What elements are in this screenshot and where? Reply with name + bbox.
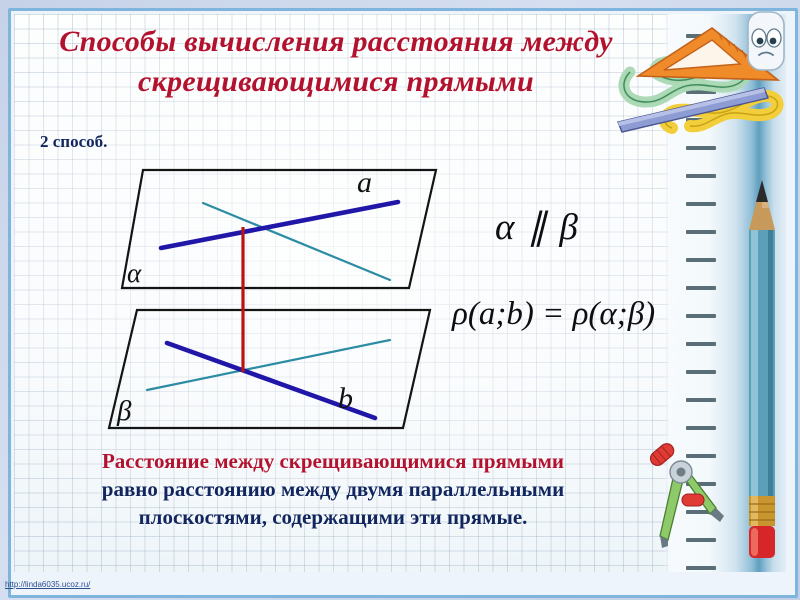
conclusion-line-3: плоскостями, содержащими эти прямые. [18,504,648,532]
eraser-mascot-icon [742,8,790,72]
source-url-link[interactable]: http://linda6035.ucoz.ru/ [5,580,90,589]
label-plane-alpha: α [127,258,141,289]
method-label: 2 способ. [40,132,107,152]
compass-icon [648,442,732,552]
label-line-b: b [338,382,353,416]
title-line-1: Способы вычисления расстояния между [59,25,612,58]
plane-beta-outline [109,310,430,428]
slide-root: Способы вычисления расстояния между скре… [0,0,800,600]
conclusion-line-2: равно расстоянию между двумя параллельны… [18,476,648,504]
plane-alpha-outline [122,170,436,288]
conclusion-text: Расстояние между скрещивающимися прямыми… [18,448,648,532]
line-a [161,202,398,248]
formula-distance-equality: ρ(a;b) = ρ(α;β) [452,296,655,333]
title-line-2: скрещивающимися прямыми [16,62,656,102]
diagram-svg [95,160,455,445]
compass-legs [660,468,724,548]
pencil-icon [742,178,782,570]
formula-planes-parallel: α ∥ β [495,205,580,249]
label-line-a: a [357,166,372,200]
crossing-line-alpha [203,203,390,280]
page-title: Способы вычисления расстояния между скре… [16,22,656,101]
compass-red-knob [682,494,704,506]
geometry-diagram: a b α β [95,160,455,445]
label-plane-beta: β [117,395,131,428]
conclusion-line-1: Расстояние между скрещивающимися прямыми [18,448,648,476]
